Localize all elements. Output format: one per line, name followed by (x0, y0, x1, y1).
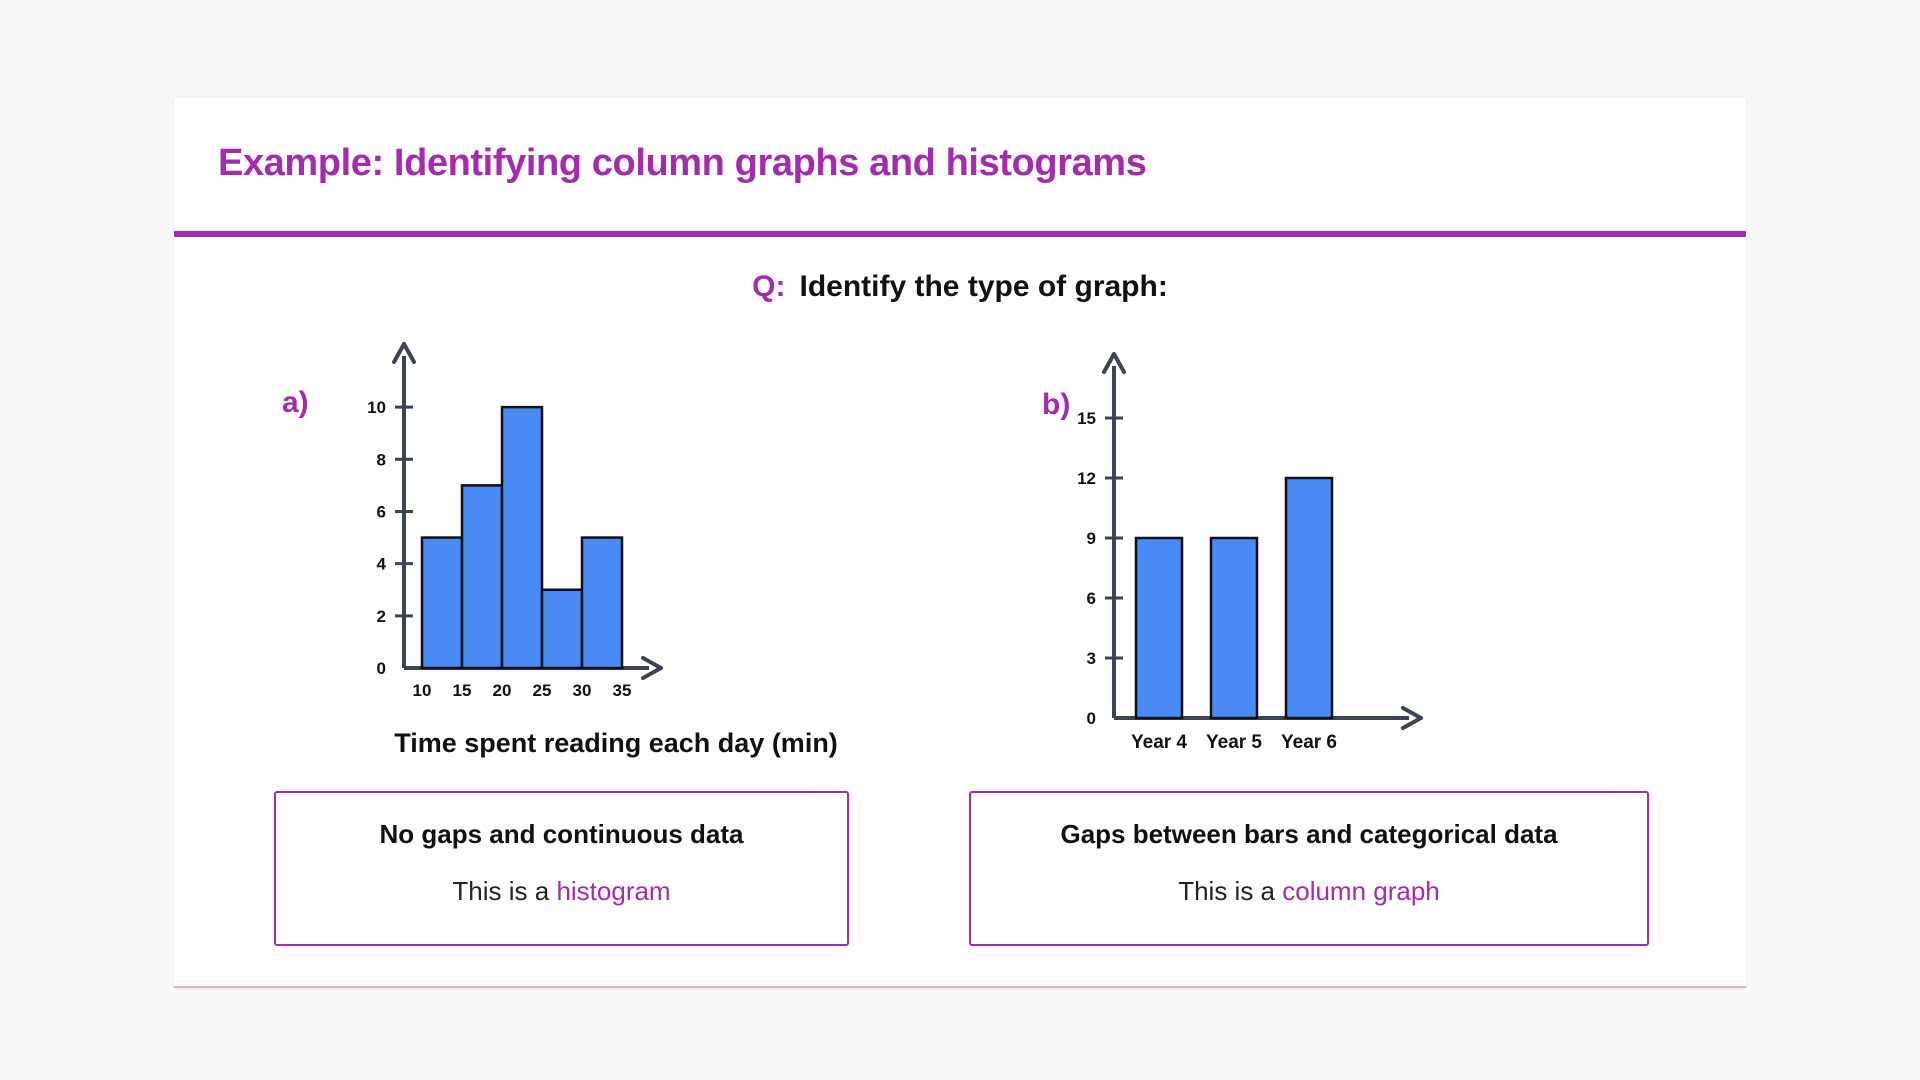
histogram-y-tick-label: 4 (377, 555, 387, 574)
histogram-x-tick-label: 35 (613, 681, 632, 700)
answer-sentence-prefix-b: This is a (1178, 876, 1282, 906)
card-bottom-rule (174, 986, 1746, 988)
page-title: Example: Identifying column graphs and h… (218, 142, 1146, 185)
answer-heading-a: No gaps and continuous data (276, 819, 847, 850)
title-divider (174, 231, 1746, 237)
histogram-y-tick-label: 10 (367, 398, 386, 417)
chart-panel-histogram: a) 0246810 101520253035 Time spent readi… (254, 328, 954, 768)
column-graph-y-tick-label: 6 (1087, 589, 1096, 608)
answer-heading-b: Gaps between bars and categorical data (971, 819, 1647, 850)
column-graph-y-tick-label: 9 (1087, 529, 1096, 548)
column-graph-category-labels: Year 4Year 5Year 6 (1131, 732, 1337, 753)
histogram-bar (542, 590, 582, 668)
column-graph-category-label: Year 5 (1206, 732, 1262, 753)
column-graph-category-label: Year 6 (1281, 732, 1337, 753)
histogram-bar (502, 407, 542, 668)
question-marker: Q: (752, 270, 785, 303)
slide-card: Example: Identifying column graphs and h… (174, 98, 1746, 988)
column-graph-y-tick-label: 0 (1087, 709, 1096, 728)
histogram-y-tick-label: 2 (377, 607, 386, 626)
histogram-x-tick-label: 25 (533, 681, 552, 700)
column-graph-chart: 03691215 Year 4Year 5Year 6 (964, 328, 1664, 768)
column-graph-y-tick-label: 12 (1077, 469, 1096, 488)
histogram-y-ticks: 0246810 (367, 398, 413, 678)
column-graph-bar (1286, 478, 1332, 718)
column-graph-category-label: Year 4 (1131, 732, 1187, 753)
column-graph-bar (1211, 538, 1257, 718)
answer-term-a: histogram (556, 876, 670, 906)
histogram-bar (462, 485, 502, 668)
histogram-x-tick-labels: 101520253035 (413, 681, 632, 700)
answer-sentence-b: This is a column graph (971, 876, 1647, 907)
histogram-x-tick-label: 15 (453, 681, 472, 700)
column-graph-y-ticks: 03691215 (1077, 409, 1123, 728)
histogram-x-tick-label: 10 (413, 681, 432, 700)
x-axis-title-histogram: Time spent reading each day (min) (306, 728, 926, 759)
answer-sentence-prefix-a: This is a (452, 876, 556, 906)
chart-panel-column-graph: b) 03691215 Year 4Year 5Year 6 (964, 328, 1664, 768)
column-graph-bar (1136, 538, 1182, 718)
histogram-x-tick-label: 20 (493, 681, 512, 700)
histogram-bar (422, 538, 462, 668)
column-graph-bars (1136, 478, 1332, 718)
question-text: Identify the type of graph: (799, 270, 1167, 303)
histogram-y-tick-label: 8 (377, 450, 386, 469)
histogram-chart: 0246810 101520253035 (254, 328, 954, 728)
histogram-y-tick-label: 6 (377, 502, 386, 521)
answer-sentence-a: This is a histogram (276, 876, 847, 907)
question-row: Q:Identify the type of graph: (174, 270, 1746, 304)
histogram-y-tick-label: 0 (377, 659, 386, 678)
histogram-x-tick-label: 30 (573, 681, 592, 700)
histogram-bars (422, 407, 622, 668)
answer-box-histogram: No gaps and continuous data This is a hi… (274, 791, 849, 946)
column-graph-y-tick-label: 15 (1077, 409, 1096, 428)
answer-term-b: column graph (1282, 876, 1440, 906)
answer-box-column-graph: Gaps between bars and categorical data T… (969, 791, 1649, 946)
histogram-bar (582, 538, 622, 668)
column-graph-y-tick-label: 3 (1087, 649, 1096, 668)
